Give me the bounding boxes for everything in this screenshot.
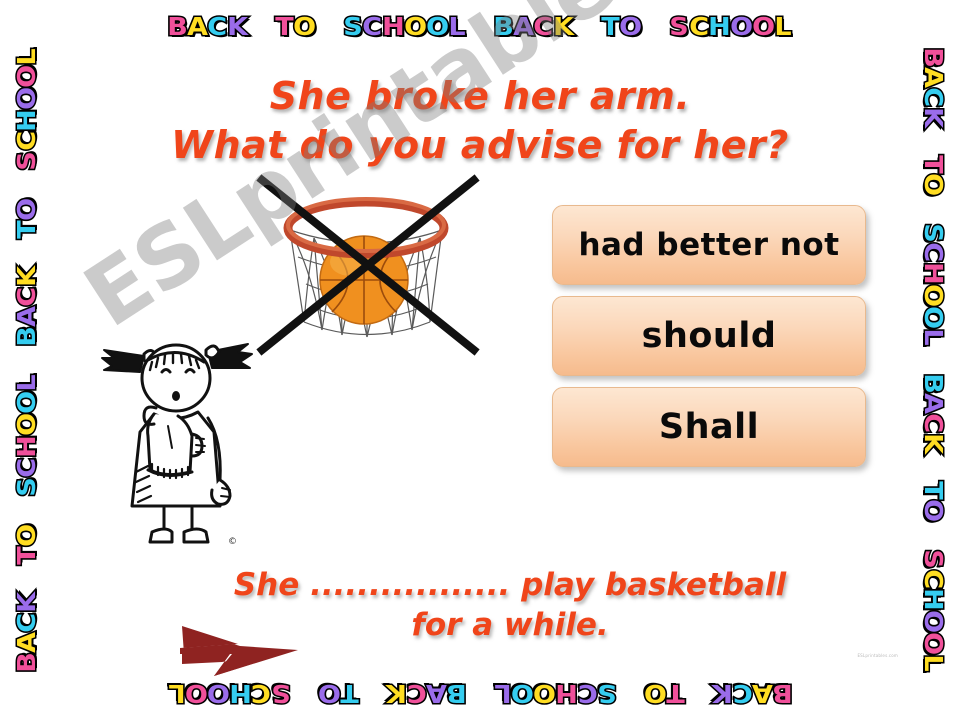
border-word: BACK	[168, 14, 248, 39]
answer-label: should	[642, 319, 777, 354]
border-letter: L	[448, 14, 466, 39]
border-letter: O	[643, 682, 667, 707]
svg-text:©: ©	[228, 537, 237, 547]
border-word: BACK	[712, 682, 792, 707]
border-letter: H	[708, 14, 732, 39]
border-word: SCHOOL	[494, 682, 616, 707]
border-letter: A	[14, 305, 39, 327]
border-letter: A	[187, 14, 209, 39]
border-letter: B	[167, 14, 189, 39]
border-word: SCHOOL	[344, 14, 466, 39]
border-letter: O	[404, 14, 428, 39]
girl-with-sling-icon: ©	[96, 322, 266, 552]
border-word: BACK	[14, 266, 39, 346]
sentence-line-1: She ................. play basketball	[120, 566, 900, 606]
border-letter: O	[922, 173, 947, 197]
basketball-hoop-icon	[252, 172, 482, 372]
border-letter: C	[207, 14, 228, 39]
border-letter: T	[275, 14, 295, 39]
border-word: SCHOOL	[670, 14, 792, 39]
answer-options: had better not should Shall	[552, 205, 864, 478]
border-letter: T	[339, 682, 359, 707]
border-letter: K	[711, 682, 733, 707]
border-word: TO	[602, 14, 642, 39]
border-word: BACK	[922, 374, 947, 454]
border-letter: T	[14, 545, 39, 565]
border-letter: C	[250, 682, 271, 707]
border-letter: O	[619, 14, 643, 39]
border-letter: S	[270, 682, 291, 707]
border-letter: T	[922, 481, 947, 501]
border-letter: A	[751, 682, 773, 707]
border-letter: A	[513, 14, 535, 39]
border-letter: B	[922, 373, 947, 395]
border-letter: L	[922, 328, 947, 346]
border-word: SCHOOL	[168, 682, 290, 707]
border-word: TO	[318, 682, 358, 707]
border-letter: O	[206, 682, 230, 707]
border-letter: S	[922, 550, 947, 571]
border-word: BACK	[494, 14, 574, 39]
border-letter: L	[14, 373, 39, 391]
border-word: SCHOOL	[922, 224, 947, 346]
border-letter: O	[730, 14, 754, 39]
border-letter: A	[425, 682, 447, 707]
border-letter: T	[665, 682, 685, 707]
border-letter: B	[771, 682, 793, 707]
border-letter: O	[317, 682, 341, 707]
border-letter: L	[922, 655, 947, 673]
border-letter: B	[14, 325, 39, 347]
border-letter: S	[670, 14, 691, 39]
border-letter: O	[14, 412, 39, 436]
border-letter: O	[293, 14, 317, 39]
question-title: She broke her arm. What do you advise fo…	[0, 72, 960, 171]
border-letter: K	[553, 14, 575, 39]
border-letter: O	[922, 632, 947, 656]
border-letter: C	[922, 569, 947, 590]
border-letter: K	[385, 682, 407, 707]
border-letter: O	[922, 306, 947, 330]
border-letter: L	[493, 682, 511, 707]
border-letter: T	[601, 14, 621, 39]
border-letter: A	[922, 393, 947, 415]
border-letter: C	[922, 414, 947, 435]
title-line-2: What do you advise for her?	[0, 121, 960, 170]
border-letter: C	[922, 242, 947, 263]
border-letter: C	[732, 682, 753, 707]
border-letter: S	[14, 476, 39, 497]
border-letter: O	[14, 390, 39, 414]
border-letter: O	[752, 14, 776, 39]
border-letter: T	[14, 219, 39, 239]
answer-label: Shall	[659, 410, 759, 445]
answer-label: had better not	[578, 230, 839, 261]
border-letter: B	[493, 14, 515, 39]
border-letter: O	[922, 284, 947, 308]
border-letter: C	[14, 285, 39, 306]
border-letter: O	[922, 499, 947, 523]
border-letter: H	[555, 682, 579, 707]
border-top: BACKTOSCHOOLBACKTOSCHOOL	[0, 0, 960, 52]
border-letter: K	[14, 265, 39, 287]
border-word: SCHOOL	[922, 550, 947, 672]
border-word: TO	[644, 682, 684, 707]
border-letter: O	[14, 523, 39, 547]
border-letter: B	[14, 651, 39, 673]
border-word: BACK	[14, 592, 39, 672]
border-letter: K	[227, 14, 249, 39]
border-letter: C	[534, 14, 555, 39]
border-word: BACK	[386, 682, 466, 707]
border-letter: O	[14, 197, 39, 221]
border-letter: B	[922, 47, 947, 69]
border-letter: O	[184, 682, 208, 707]
border-word: TO	[14, 198, 39, 238]
border-letter: C	[14, 612, 39, 633]
border-letter: C	[577, 682, 598, 707]
border-word: TO	[922, 482, 947, 522]
answer-button-shall[interactable]: Shall	[552, 387, 866, 467]
border-letter: L	[167, 682, 185, 707]
border-letter: C	[14, 457, 39, 478]
border-letter: O	[532, 682, 556, 707]
border-letter: H	[922, 588, 947, 612]
border-letter: S	[922, 223, 947, 244]
border-letter: O	[510, 682, 534, 707]
title-line-1: She broke her arm.	[0, 72, 960, 121]
border-letter: S	[596, 682, 617, 707]
border-letter: L	[14, 47, 39, 65]
border-bottom: BACKTOSCHOOLBACKTOSCHOOL	[0, 668, 960, 720]
border-letter: K	[922, 433, 947, 455]
worksheet-slide: BACKTOSCHOOLBACKTOSCHOOL BACKTOSCHOOLBAC…	[0, 0, 960, 720]
answer-button-had-better-not[interactable]: had better not	[552, 205, 866, 285]
border-letter: H	[14, 435, 39, 459]
answer-button-should[interactable]: should	[552, 296, 866, 376]
border-letter: C	[405, 682, 426, 707]
border-word: SCHOOL	[14, 374, 39, 496]
border-letter: H	[228, 682, 252, 707]
micro-credit-text: ESLprintables.com	[857, 653, 898, 658]
border-letter: A	[14, 631, 39, 653]
border-letter: B	[445, 682, 467, 707]
border-letter: C	[689, 14, 710, 39]
border-letter: K	[14, 591, 39, 613]
border-letter: H	[382, 14, 406, 39]
next-arrow-icon[interactable]	[178, 620, 300, 678]
border-letter: H	[922, 262, 947, 286]
border-letter: O	[922, 610, 947, 634]
border-word: TO	[14, 524, 39, 564]
border-letter: C	[362, 14, 383, 39]
border-letter: S	[343, 14, 364, 39]
border-letter: O	[426, 14, 450, 39]
border-word: TO	[276, 14, 316, 39]
border-letter: L	[775, 14, 793, 39]
